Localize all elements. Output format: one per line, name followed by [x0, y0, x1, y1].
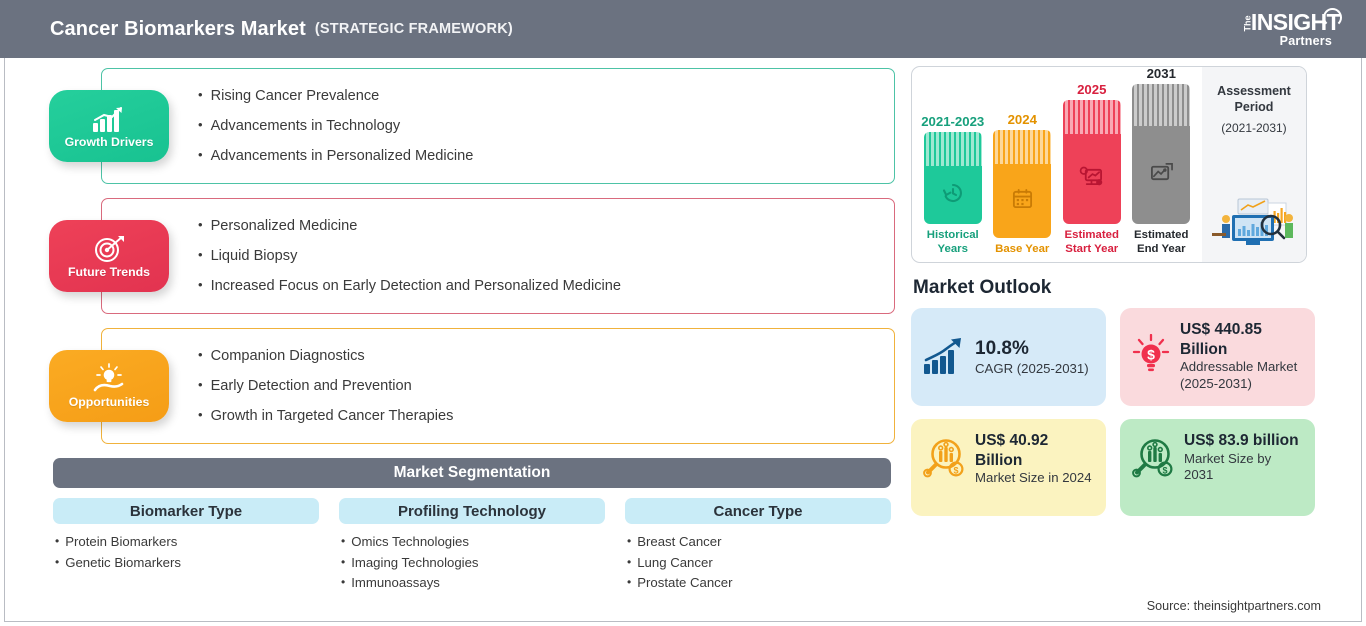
calendar-icon: [1011, 187, 1034, 215]
bullet-text: Advancements in Technology: [211, 118, 401, 134]
insight-partners-logo: The INSIGHT Partners: [1240, 11, 1344, 48]
bar-strip: [924, 132, 982, 166]
list-item-label: Immunoassays: [351, 573, 440, 593]
segmentation-column-header: Cancer Type: [625, 498, 891, 524]
bullet-item: • Rising Cancer Prevalence: [198, 88, 876, 104]
assessment-period-side: Assessment Period (2021-2031): [1202, 67, 1306, 262]
forecast-chart-icon: [1079, 165, 1104, 193]
assessment-period-title: Assessment Period: [1202, 83, 1306, 116]
market-outlook-title: Market Outlook: [913, 277, 1331, 299]
assessment-bars: 2021-2023: [912, 67, 1202, 262]
assessment-bar-caption: Estimated Start Year: [1059, 229, 1125, 256]
badge-label: Future Trends: [68, 265, 150, 279]
bullet-item: • Personalized Medicine: [198, 218, 876, 234]
bullet-item: • Early Detection and Prevention: [198, 378, 876, 394]
content-canvas: • Rising Cancer Prevalence • Advancement…: [4, 58, 1362, 622]
outlook-card-value: US$ 40.92 Billion: [975, 431, 1095, 470]
assessment-bar-historical: 2021-2023: [920, 114, 986, 256]
market-segmentation-header: Market Segmentation: [53, 458, 891, 488]
outlook-card-text: US$ 40.92 Billion Market Size in 2024: [975, 431, 1095, 487]
assessment-period-range: (2021-2031): [1221, 121, 1286, 135]
list-item-label: Lung Cancer: [637, 553, 713, 573]
assessment-period-panel: 2021-2023: [911, 66, 1307, 263]
bar-solid: [1132, 126, 1190, 224]
bullet-dot-icon: •: [627, 553, 631, 573]
pillar-growth-drivers: • Rising Cancer Prevalence • Advancement…: [49, 68, 895, 184]
bullet-item: • Growth in Targeted Cancer Therapies: [198, 408, 876, 424]
bullet-dot-icon: •: [198, 218, 203, 234]
source-attribution: Source: theinsightpartners.com: [1147, 599, 1321, 613]
list-item: • Prostate Cancer: [627, 573, 891, 593]
logo-top-row: The INSIGHT: [1240, 11, 1340, 34]
bar-solid: [924, 166, 982, 224]
bullet-dot-icon: •: [198, 278, 203, 294]
bullet-dot-icon: •: [198, 408, 203, 424]
list-item-label: Imaging Technologies: [351, 553, 478, 573]
market-segmentation-title: Market Segmentation: [394, 464, 551, 482]
svg-text:$: $: [1162, 465, 1167, 475]
bullet-dot-icon: •: [55, 532, 59, 552]
bullet-dot-icon: •: [55, 553, 59, 573]
segmentation-column-title: Biomarker Type: [130, 503, 242, 520]
outlook-card-value: US$ 83.9 billion: [1184, 431, 1304, 451]
segmentation-list: • Breast Cancer • Lung Cancer • Prostate…: [625, 532, 891, 593]
list-item-label: Breast Cancer: [637, 532, 721, 552]
outlook-card-cagr[interactable]: 10.8% CAGR (2025-2031): [911, 308, 1106, 406]
bullet-text: Early Detection and Prevention: [211, 378, 412, 394]
segmentation-column-header: Profiling Technology: [339, 498, 605, 524]
badge-future-trends[interactable]: Future Trends: [49, 220, 169, 292]
badge-opportunities[interactable]: Opportunities: [49, 350, 169, 422]
outlook-card-market-size-2031[interactable]: $ US$ 83.9 billion Market Size by 2031: [1120, 419, 1315, 516]
bullet-dot-icon: •: [198, 348, 203, 364]
list-item-label: Prostate Cancer: [637, 573, 732, 593]
list-item: • Protein Biomarkers: [55, 532, 319, 552]
bullet-dot-icon: •: [341, 553, 345, 573]
future-trends-box: • Personalized Medicine • Liquid Biopsy …: [101, 198, 895, 314]
assessment-bar-year: 2025: [1077, 82, 1106, 97]
bullet-dot-icon: •: [341, 573, 345, 593]
outlook-card-label: Addressable Market (2025-2031): [1180, 359, 1304, 392]
bullet-item: • Companion Diagnostics: [198, 348, 876, 364]
bullet-dot-icon: •: [198, 148, 203, 164]
bullet-text: Companion Diagnostics: [211, 348, 365, 364]
list-item: • Breast Cancer: [627, 532, 891, 552]
segmentation-column-title: Cancer Type: [714, 503, 803, 520]
bullet-item: • Increased Focus on Early Detection and…: [198, 278, 876, 294]
lightbulb-in-hand-icon: [92, 363, 126, 393]
assessment-bar-year: 2031: [1147, 66, 1176, 81]
bar-strip: [1132, 84, 1190, 126]
page-header: Cancer Biomarkers Market (STRATEGIC FRAM…: [0, 0, 1366, 58]
svg-text:$: $: [953, 465, 958, 475]
bullet-dot-icon: •: [198, 88, 203, 104]
bullet-text: Liquid Biopsy: [211, 248, 298, 264]
svg-text:$: $: [1147, 347, 1155, 363]
magnifier-chart-dollar-icon: $: [1131, 437, 1175, 479]
bar-chart-growth-icon: [92, 103, 126, 133]
bullet-dot-icon: •: [627, 532, 631, 552]
growth-drivers-box: • Rising Cancer Prevalence • Advancement…: [101, 68, 895, 184]
list-item: • Imaging Technologies: [341, 553, 605, 573]
bullet-text: Personalized Medicine: [211, 218, 358, 234]
bullet-dot-icon: •: [341, 532, 345, 552]
bullet-dot-icon: •: [198, 248, 203, 264]
assessment-bar-year: 2024: [1008, 112, 1037, 127]
segmentation-column-title: Profiling Technology: [398, 503, 546, 520]
list-item: • Immunoassays: [341, 573, 605, 593]
bullet-item: • Advancements in Personalized Medicine: [198, 148, 876, 164]
bullet-text: Advancements in Personalized Medicine: [211, 148, 474, 164]
bullet-dot-icon: •: [198, 378, 203, 394]
outlook-card-value: US$ 440.85 Billion: [1180, 320, 1304, 359]
assessment-bar-estimated-start: 2025: [1059, 82, 1125, 256]
segmentation-column-profiling-technology: Profiling Technology • Omics Technologie…: [339, 498, 605, 593]
pillar-opportunities: • Companion Diagnostics • Early Detectio…: [49, 328, 895, 444]
bullet-item: • Advancements in Technology: [198, 118, 876, 134]
page-subtitle: (STRATEGIC FRAMEWORK): [315, 21, 513, 37]
bar-strip: [993, 130, 1051, 164]
bar-solid: [993, 164, 1051, 238]
bullet-text: Increased Focus on Early Detection and P…: [211, 278, 621, 294]
outlook-card-addressable-market[interactable]: $ US$ 440.85 Billion Addressable Market …: [1120, 308, 1315, 406]
badge-growth-drivers[interactable]: Growth Drivers: [49, 90, 169, 162]
segmentation-column-cancer-type: Cancer Type • Breast Cancer • Lung Cance…: [625, 498, 891, 593]
bullet-text: Rising Cancer Prevalence: [211, 88, 380, 104]
segmentation-list: • Omics Technologies • Imaging Technolog…: [339, 532, 605, 593]
page-title: Cancer Biomarkers Market: [50, 18, 306, 41]
badge-label: Opportunities: [69, 395, 150, 409]
bar-solid: [1063, 134, 1121, 224]
list-item: • Genetic Biomarkers: [55, 553, 319, 573]
segmentation-columns: Biomarker Type • Protein Biomarkers • Ge…: [53, 498, 891, 593]
bullet-dot-icon: •: [198, 118, 203, 134]
bar-strip: [1063, 100, 1121, 134]
outlook-card-label: Market Size in 2024: [975, 470, 1095, 487]
outlook-card-text: US$ 83.9 billion Market Size by 2031: [1184, 431, 1304, 484]
lightbulb-dollar-icon: $: [1131, 334, 1171, 376]
assessment-bar-year: 2021-2023: [921, 114, 984, 129]
badge-label: Growth Drivers: [65, 135, 154, 149]
logo-the-text: The: [1243, 15, 1252, 31]
presentation-chart-icon: [1149, 161, 1174, 189]
list-item-label: Protein Biomarkers: [65, 532, 177, 552]
opportunities-box: • Companion Diagnostics • Early Detectio…: [101, 328, 895, 444]
logo-partners-text: Partners: [1280, 35, 1332, 48]
outlook-cards: 10.8% CAGR (2025-2031) $: [911, 308, 1321, 529]
bullet-item: • Liquid Biopsy: [198, 248, 876, 264]
assessment-bar-caption: Base Year: [995, 243, 1049, 256]
segmentation-list: • Protein Biomarkers • Genetic Biomarker…: [53, 532, 319, 573]
outlook-card-text: 10.8% CAGR (2025-2031): [975, 337, 1089, 378]
left-column: • Rising Cancer Prevalence • Advancement…: [49, 68, 895, 594]
right-column: 2021-2023: [911, 66, 1331, 529]
outlook-card-label: CAGR (2025-2031): [975, 361, 1089, 378]
assessment-bar-estimated-end: 2031: [1128, 66, 1194, 256]
list-item-label: Genetic Biomarkers: [65, 553, 181, 573]
assessment-bar-base: 2024: [989, 112, 1055, 256]
outlook-card-market-size-2024[interactable]: $ US$ 40.92 Billion Market Size in 2024: [911, 419, 1106, 516]
outlook-card-value: 10.8%: [975, 337, 1089, 361]
assessment-bar-caption: Historical Years: [920, 229, 986, 256]
assessment-bar-caption: Estimated End Year: [1128, 229, 1194, 256]
list-item: • Omics Technologies: [341, 532, 605, 552]
outlook-card-label: Market Size by 2031: [1184, 451, 1304, 484]
history-clock-icon: [941, 181, 965, 210]
infographic-root: Cancer Biomarkers Market (STRATEGIC FRAM…: [0, 0, 1366, 626]
bar-chart-arrow-icon: [922, 337, 966, 377]
target-dart-icon: [93, 233, 125, 263]
list-item-label: Omics Technologies: [351, 532, 469, 552]
segmentation-column-biomarker-type: Biomarker Type • Protein Biomarkers • Ge…: [53, 498, 319, 593]
logo-circle-icon: [1323, 8, 1342, 27]
outlook-card-text: US$ 440.85 Billion Addressable Market (2…: [1180, 320, 1304, 392]
bullet-text: Growth in Targeted Cancer Therapies: [211, 408, 454, 424]
bullet-dot-icon: •: [627, 573, 631, 593]
segmentation-column-header: Biomarker Type: [53, 498, 319, 524]
data-analysis-illustration: [1208, 189, 1300, 256]
magnifier-chart-dollar-icon: $: [922, 437, 966, 479]
list-item: • Lung Cancer: [627, 553, 891, 573]
pillar-future-trends: • Personalized Medicine • Liquid Biopsy …: [49, 198, 895, 314]
